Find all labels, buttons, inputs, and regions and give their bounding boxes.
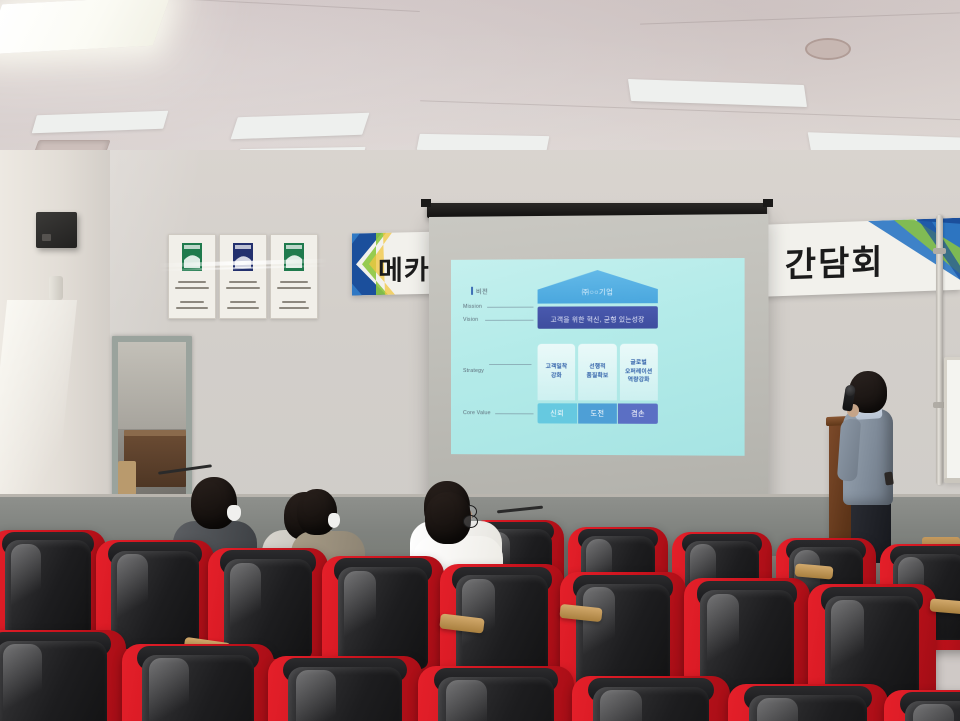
core-value-block: 도전	[578, 403, 617, 423]
seat-highlight	[446, 680, 487, 721]
framed-certificate	[270, 234, 318, 319]
doorway[interactable]	[112, 336, 192, 501]
seat-highlight	[230, 563, 261, 639]
presentation-slide: 비전 Mission Vision Strategy Core Value ㈜○…	[451, 258, 745, 456]
framed-certificate	[219, 234, 267, 319]
face-mask-icon	[227, 505, 241, 521]
conduit-clip	[933, 248, 946, 254]
slide-label-strategy: Strategy	[463, 368, 484, 374]
seat-highlight	[149, 658, 189, 721]
strategy-pillar: 선행적 품질확보	[578, 344, 616, 401]
seat-highlight	[344, 571, 376, 648]
seat-highlight	[707, 594, 740, 675]
whiteboard-marker-tray	[944, 478, 960, 483]
slide-core-values: 신뢰 도전 겸손	[538, 403, 658, 424]
wall-sensor-icon	[49, 276, 63, 300]
desk-top	[124, 430, 186, 436]
audience-head	[297, 489, 337, 535]
seat[interactable]	[0, 630, 126, 721]
poster-text-line	[277, 287, 312, 289]
door-opening	[118, 342, 186, 501]
slide-row-labels: Mission Vision Strategy Core Value	[459, 259, 535, 454]
pillar-text: 고객밀착 강화	[546, 363, 568, 380]
audience-head	[191, 477, 237, 529]
slide-mission-vision-text: 고객을 위한 혁신, 균형 있는성장	[538, 313, 658, 323]
core-value-label: 도전	[591, 408, 605, 418]
poster-text-line	[279, 307, 309, 309]
core-value-block: 신뢰	[538, 403, 577, 423]
poster-text-line	[229, 281, 257, 283]
poster-text-line	[282, 301, 306, 303]
seat[interactable]	[884, 690, 960, 721]
slide-label-corevalue: Core Value	[463, 410, 491, 416]
poster-group	[168, 234, 318, 319]
strategy-pillar: 글로벌 오퍼레이션 역량강화	[620, 344, 658, 401]
wall-speaker	[36, 212, 77, 248]
seat-highlight	[11, 544, 41, 616]
pillar-text: 선행적 품질확보	[587, 363, 609, 381]
seat-highlight	[831, 600, 864, 682]
face-mask-icon	[328, 513, 340, 528]
pillar-text: 글로벌 오퍼레이션 역량강화	[625, 359, 652, 385]
label-leader-line	[489, 364, 531, 365]
core-value-label: 겸손	[631, 409, 645, 419]
adjacent-room-chair	[118, 461, 136, 495]
slide-label-mission: Mission	[463, 304, 482, 310]
label-leader-line	[487, 307, 533, 308]
slide-strategy-pillars: 고객밀착 강화 선행적 품질확보 글로벌 오퍼레이션 역량강화	[538, 344, 658, 401]
seat[interactable]	[122, 644, 274, 721]
presenter-held-device	[884, 472, 894, 486]
whiteboard	[944, 357, 960, 483]
seat[interactable]	[572, 676, 730, 721]
framed-certificate	[168, 234, 216, 319]
auditorium-scene: 메카트 생 간담회 비전 Mission Vision Strategy Cor…	[0, 0, 960, 721]
label-leader-line	[485, 320, 533, 321]
poster-text-line	[230, 301, 256, 303]
seat[interactable]	[418, 666, 574, 721]
slide-label-vision: Vision	[463, 317, 478, 323]
poster-text-line	[227, 307, 258, 309]
slide-company-label: ㈜○○기업	[538, 287, 658, 298]
poster-text-line	[178, 281, 206, 283]
strategy-pillar: 고객밀착 강화	[538, 344, 576, 401]
seat-highlight	[3, 644, 42, 718]
seat[interactable]	[268, 656, 422, 721]
projection-screen: 비전 Mission Vision Strategy Core Value ㈜○…	[429, 214, 768, 510]
poster-text-line	[180, 301, 205, 303]
seat[interactable]	[0, 530, 106, 646]
poster-text-line	[226, 287, 259, 289]
poster-text-line	[175, 287, 209, 289]
seat-highlight	[757, 698, 799, 721]
wall-conduit-pipe	[936, 215, 943, 485]
core-value-label: 신뢰	[550, 408, 564, 418]
slide-mission-vision-bar: 고객을 위한 혁신, 균형 있는성장	[538, 306, 658, 329]
poster-text-line	[176, 307, 208, 309]
eyeglasses-icon	[463, 515, 478, 528]
seat-highlight	[600, 690, 641, 721]
label-leader-line	[495, 413, 533, 414]
seat-highlight	[913, 704, 955, 721]
slide-pediment: ㈜○○기업	[538, 270, 658, 304]
core-value-block: 겸손	[618, 403, 658, 423]
poster-text-line	[280, 281, 309, 283]
seat-highlight	[583, 587, 616, 666]
adjacent-room-wall	[118, 342, 186, 429]
seat-highlight	[296, 670, 336, 721]
seat-highlight	[117, 554, 148, 628]
seat[interactable]	[728, 684, 888, 721]
ceiling-diffuser	[805, 38, 851, 60]
